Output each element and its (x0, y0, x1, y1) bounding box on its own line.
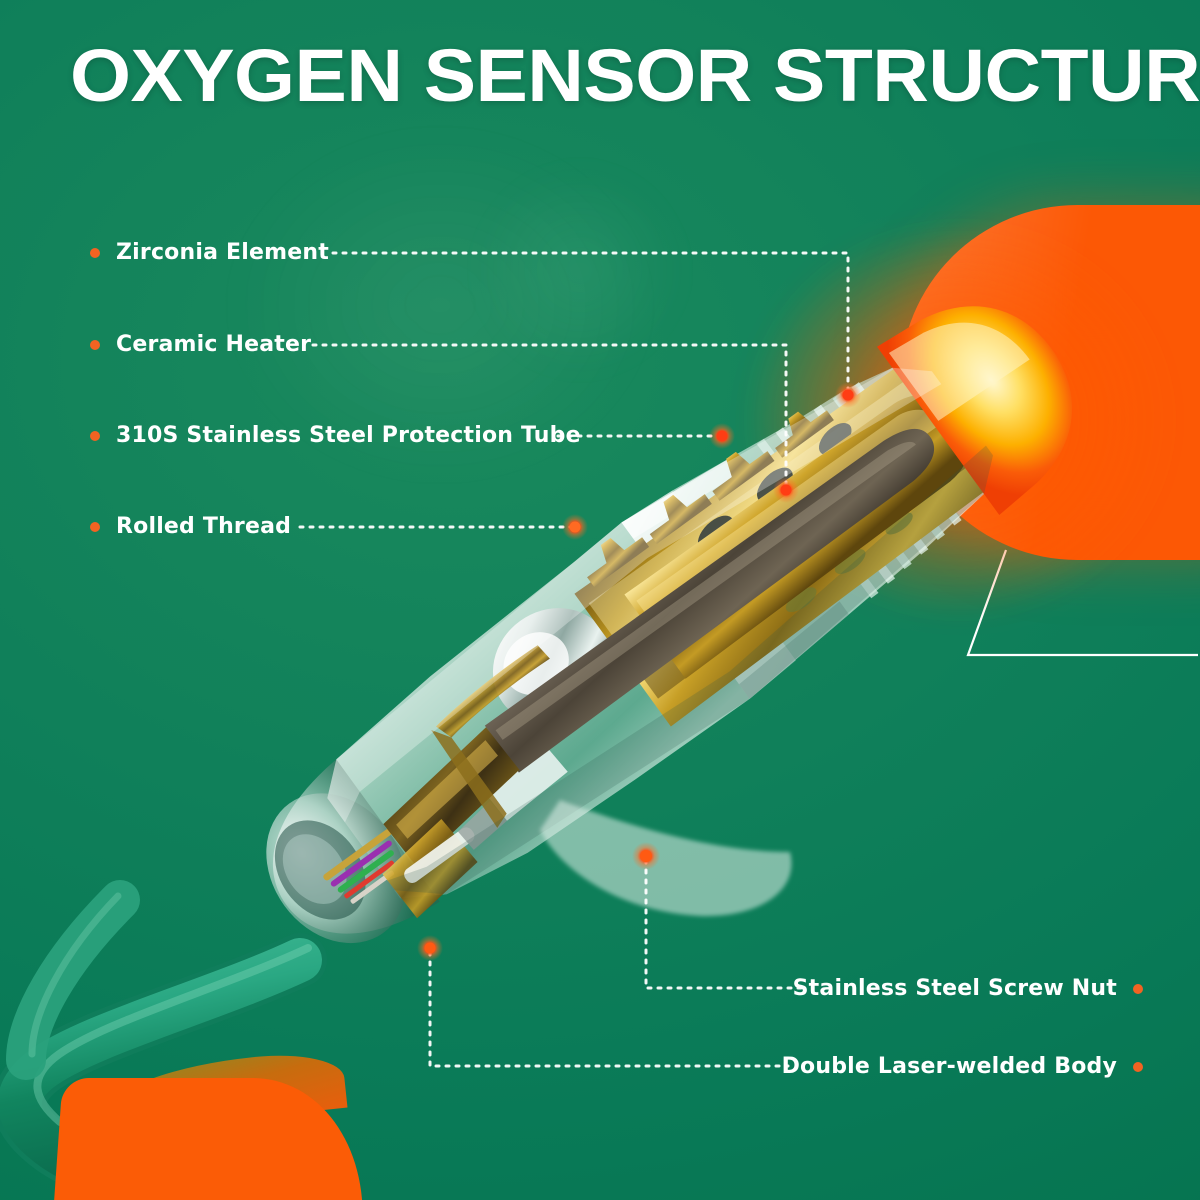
callout-label: Ceramic Heater (116, 332, 311, 357)
protection-tube-slots (685, 415, 865, 559)
cutaway-edge (577, 391, 834, 592)
bullet-icon (1133, 1062, 1143, 1072)
bullet-icon (90, 522, 100, 532)
background-sheen (180, 90, 700, 520)
callout-label: Double Laser-welded Body (782, 1054, 1117, 1079)
callout-label: Rolled Thread (116, 514, 291, 539)
page-title: OXYGEN SENSOR STRUCTURE (70, 36, 1200, 116)
protection-tube-slots-lower (780, 508, 919, 616)
callout-rolled-thread[interactable]: Rolled Thread (90, 514, 291, 539)
poster-canvas: OXYGEN SENSOR STRUCTURE Zirconia Element… (0, 0, 1200, 1200)
callout-zirconia-element[interactable]: Zirconia Element (90, 240, 329, 265)
orange-accent-shape-right (900, 205, 1200, 560)
callout-label: 310S Stainless Steel Protection Tube (116, 423, 581, 448)
white-accent-line (940, 535, 1200, 670)
callout-ceramic-heater[interactable]: Ceramic Heater (90, 332, 311, 357)
callout-laser-welded-body[interactable]: Double Laser-welded Body (782, 1054, 1143, 1079)
callout-label: Zirconia Element (116, 240, 329, 265)
bullet-icon (90, 248, 100, 258)
bullet-icon (90, 431, 100, 441)
callout-protection-tube[interactable]: 310S Stainless Steel Protection Tube (90, 423, 581, 448)
wire-bundle (322, 828, 412, 909)
laser-welded-body (415, 582, 664, 822)
callout-screw-nut[interactable]: Stainless Steel Screw Nut (793, 976, 1143, 1001)
background-sheen-2 (430, 120, 730, 420)
screw-nut (622, 446, 855, 699)
bullet-icon (90, 340, 100, 350)
connector-tail (348, 726, 554, 919)
bullet-icon (1133, 984, 1143, 994)
callout-label: Stainless Steel Screw Nut (793, 976, 1117, 1001)
